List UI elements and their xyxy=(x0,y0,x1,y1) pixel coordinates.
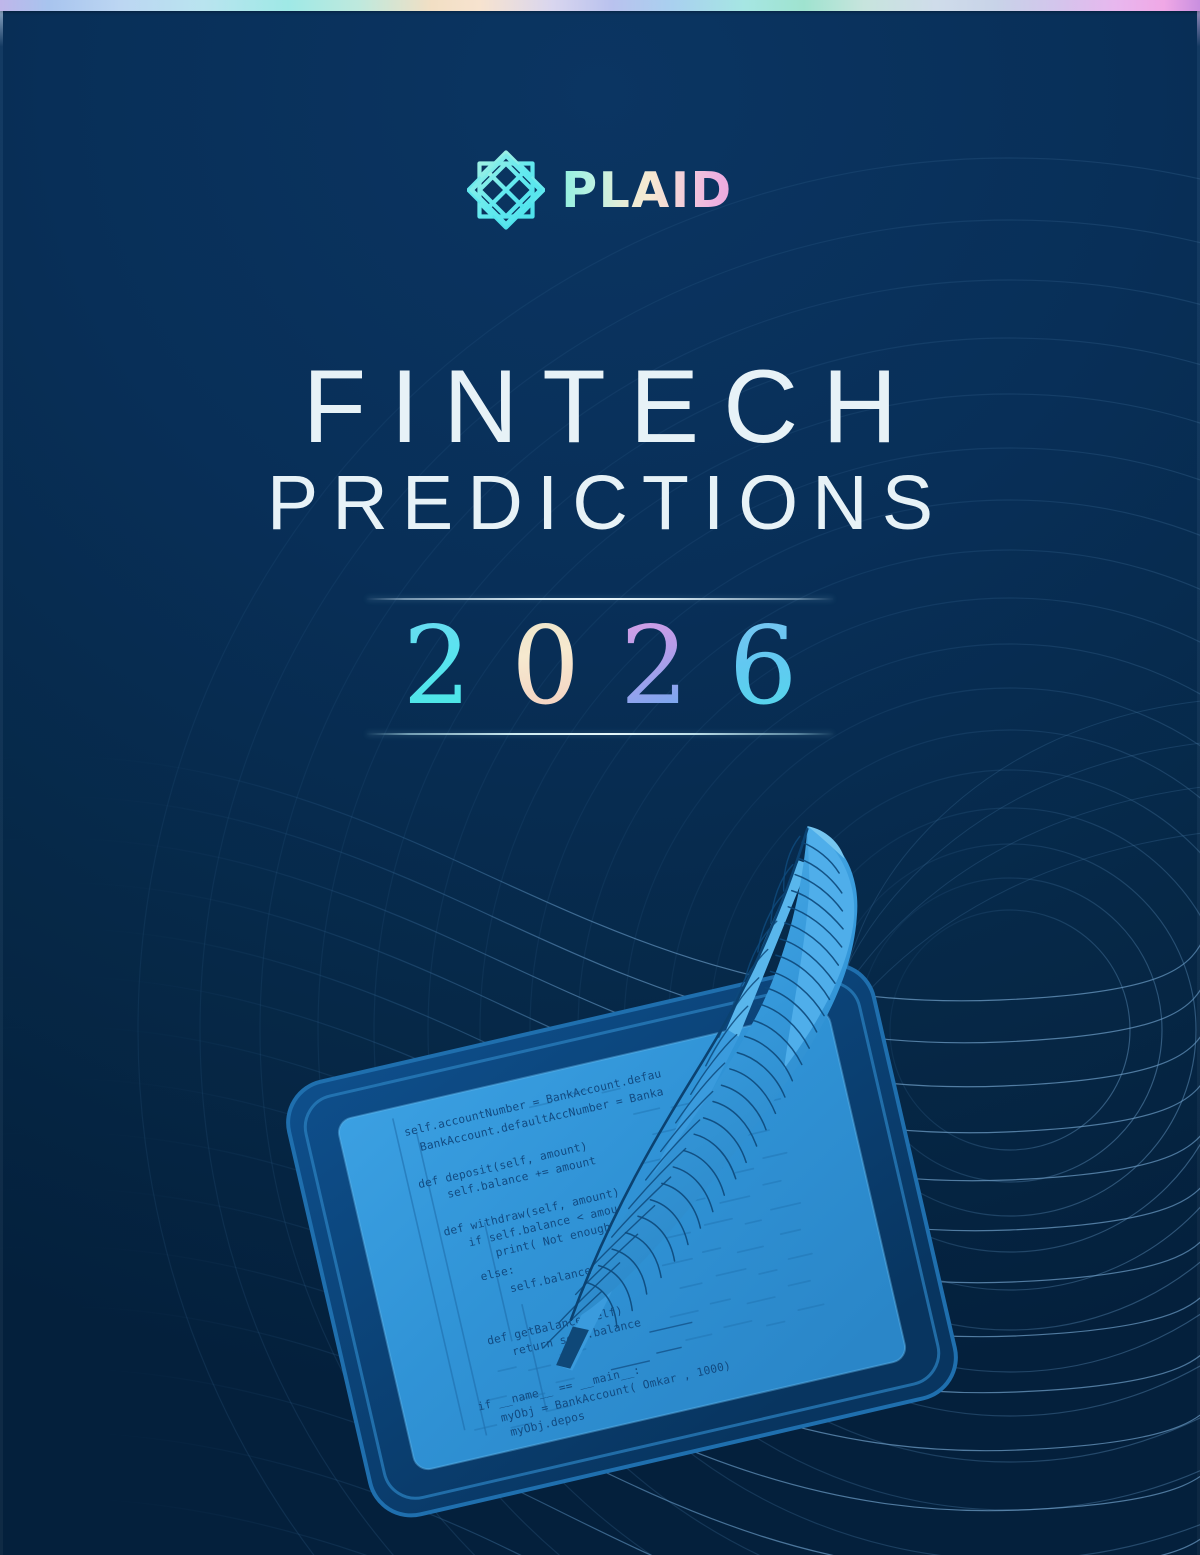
plaid-wordmark: PLAID xyxy=(561,166,732,215)
background-wave-pattern xyxy=(0,0,1200,1555)
year-block: 2 0 2 6 xyxy=(0,598,1200,735)
year-digit-1: 2 xyxy=(383,607,492,728)
svg-text:if __name__ == __main__:: if __name__ == __main__: xyxy=(476,1363,641,1413)
year-digit-3: 2 xyxy=(600,607,709,728)
year-divider-bottom xyxy=(367,733,833,735)
svg-text:def deposit(self, amount): def deposit(self, amount) xyxy=(417,1140,589,1192)
svg-text:self.balance += amount: self.balance += amount xyxy=(446,1154,598,1201)
tablet-quill-illustration: self.accountNumber = BankAccount.defau B… xyxy=(0,0,1200,1555)
left-edge-highlight xyxy=(0,0,3,1555)
year-divider-top xyxy=(367,598,833,600)
iridescent-gradient-bar xyxy=(0,0,1200,11)
svg-text:else:: else: xyxy=(479,1263,516,1283)
svg-text:def getBalance(self): def getBalance(self) xyxy=(486,1304,624,1348)
year-value: 2 0 2 6 xyxy=(383,607,818,728)
svg-text:BankAccount.defaultAccNumber =: BankAccount.defaultAccNumber = Banka xyxy=(419,1085,665,1154)
svg-text:return self.balance: return self.balance xyxy=(511,1316,642,1358)
svg-text:self.accountNumber = BankAccou: self.accountNumber = BankAccount.defau xyxy=(403,1067,663,1139)
svg-text:self.balance: self.balance xyxy=(509,1264,593,1295)
title-line-fintech: FINTECH xyxy=(0,355,1200,459)
title-line-predictions: PREDICTIONS xyxy=(0,465,1200,542)
cover-page: self.accountNumber = BankAccount.defau B… xyxy=(0,0,1200,1555)
cover-title: FINTECH PREDICTIONS xyxy=(0,355,1200,542)
brand-logo: PLAID xyxy=(0,150,1200,230)
plaid-lattice-logo-icon xyxy=(467,150,545,230)
svg-text:myObj.depos: myObj.depos xyxy=(509,1409,586,1439)
year-digit-4: 6 xyxy=(709,607,818,728)
svg-text:print( Not enough: print( Not enough xyxy=(494,1220,612,1259)
svg-text:myObj = BankAccount( Omkar , 1: myObj = BankAccount( Omkar , 1000) xyxy=(500,1359,733,1425)
year-digit-2: 0 xyxy=(491,607,600,728)
svg-text:if self.balance < amou: if self.balance < amou xyxy=(467,1202,619,1249)
svg-text:def withdraw(self, amount): def withdraw(self, amount) xyxy=(442,1186,621,1239)
